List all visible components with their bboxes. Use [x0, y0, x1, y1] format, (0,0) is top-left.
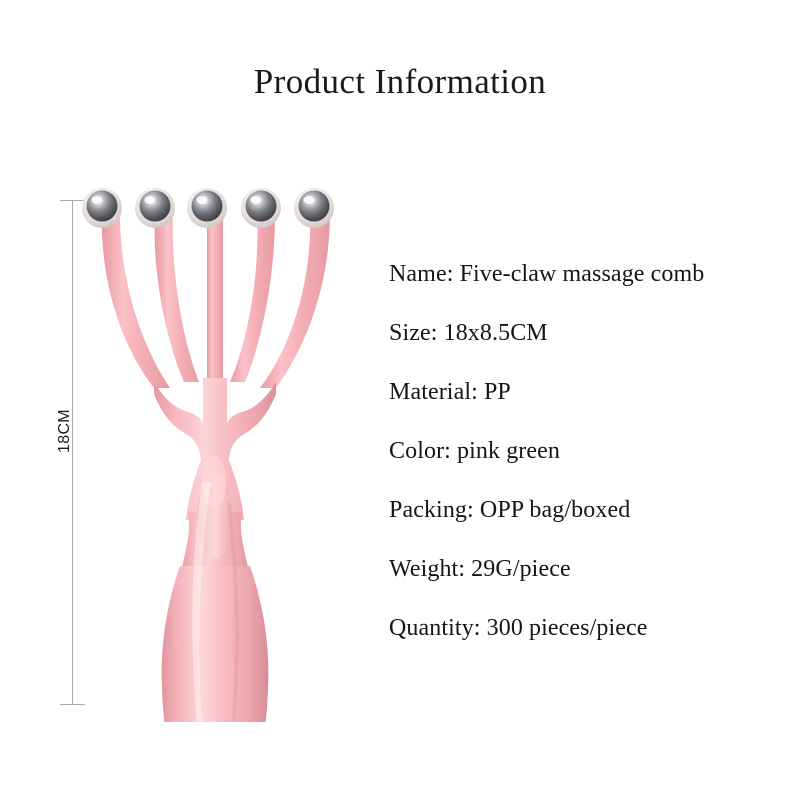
product-handle-lower — [162, 634, 268, 722]
spec-item-material: Material: PP — [389, 363, 789, 422]
spec-item-quantity: Quantity: 300 pieces/piece — [389, 599, 789, 658]
product-image — [62, 182, 362, 722]
page-title: Product Information — [0, 62, 800, 102]
spec-list: Name: Five-claw massage comb Size: 18x8.… — [389, 245, 789, 658]
claw-prongs — [102, 212, 330, 388]
spec-item-color: Color: pink green — [389, 422, 789, 481]
claw-ball-tip — [241, 188, 281, 228]
spec-item-name: Name: Five-claw massage comb — [389, 245, 789, 304]
product-information-page: Product Information 18CM — [0, 0, 800, 800]
claw-ball-tip — [294, 188, 334, 228]
claw-ball-tip — [187, 188, 227, 228]
claw-ball-tip — [135, 188, 175, 228]
spec-item-weight: Weight: 29G/piece — [389, 540, 789, 599]
spec-item-size: Size: 18x8.5CM — [389, 304, 789, 363]
spec-item-packing: Packing: OPP bag/boxed — [389, 481, 789, 540]
claw-ball-tip — [82, 188, 122, 228]
